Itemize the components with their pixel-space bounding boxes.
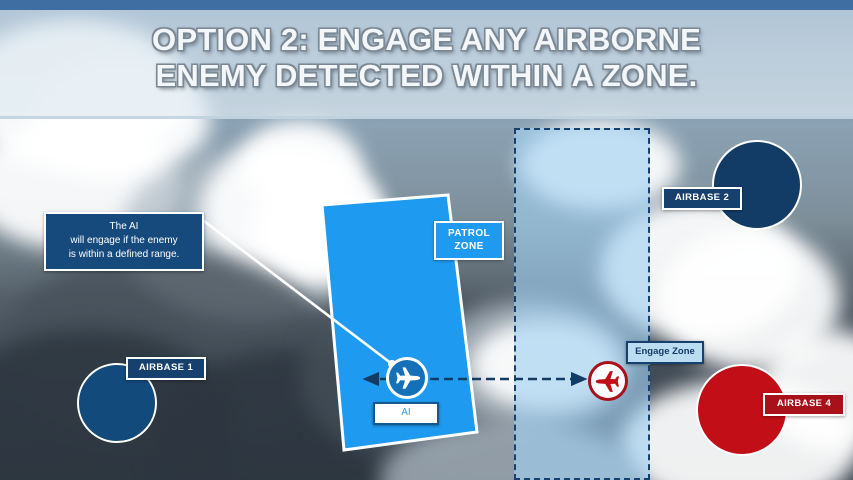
- airbase-1-label[interactable]: AIRBASE 1: [126, 357, 206, 380]
- slide-canvas: OPTION 2: ENGAGE ANY AIRBORNE ENEMY DETE…: [0, 0, 853, 480]
- ai-aircraft-label[interactable]: AI: [373, 402, 439, 425]
- fighter-jet-icon: [392, 363, 422, 393]
- enemy-aircraft-marker[interactable]: [588, 361, 628, 401]
- cloud-shape: [240, 120, 360, 210]
- top-accent-bar: [0, 0, 853, 10]
- ai-aircraft-marker[interactable]: [386, 357, 428, 399]
- patrol-zone-label[interactable]: PATROL ZONE: [434, 221, 504, 260]
- ai-engagement-callout: The AI will engage if the enemy is withi…: [44, 212, 204, 271]
- airbase-2-label[interactable]: AIRBASE 2: [662, 187, 742, 210]
- page-title: OPTION 2: ENGAGE ANY AIRBORNE ENEMY DETE…: [0, 22, 853, 94]
- fighter-jet-icon: [594, 367, 623, 396]
- engage-zone-area[interactable]: [514, 128, 650, 480]
- airbase-2-marker[interactable]: [712, 140, 802, 230]
- airbase-4-label[interactable]: AIRBASE 4: [763, 393, 845, 416]
- engage-zone-label[interactable]: Engage Zone: [626, 341, 704, 364]
